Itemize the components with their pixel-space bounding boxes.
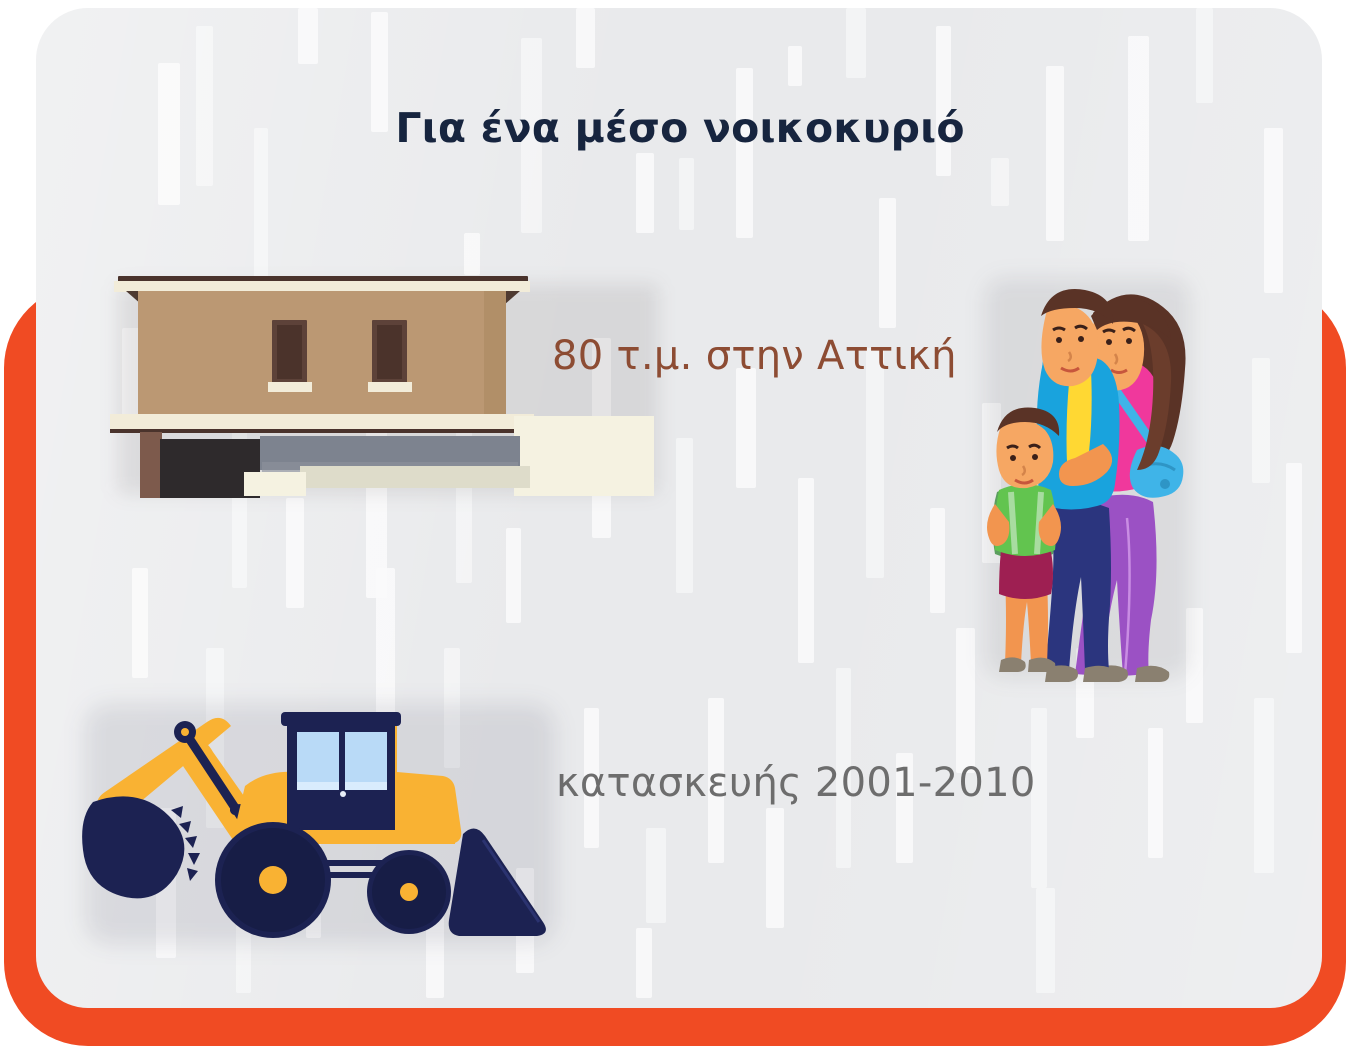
construction-year-label: κατασκευής 2001-2010 — [556, 760, 1036, 806]
backhoe-loader-illustration — [75, 690, 575, 955]
rain-streak — [298, 8, 318, 64]
boy-shoe-left — [999, 657, 1026, 672]
woman-eye-left — [1106, 339, 1112, 345]
house-illustration — [112, 276, 672, 496]
rain-streak — [286, 498, 304, 608]
man-eye-right — [1078, 336, 1084, 342]
boy-eye-left — [1010, 455, 1016, 461]
family-illustration — [985, 268, 1205, 688]
rain-streak — [464, 233, 480, 275]
rain-streak — [879, 198, 896, 328]
rain-streak — [676, 438, 693, 593]
rain-streak — [736, 68, 753, 238]
house-window-right-sill — [368, 382, 412, 392]
rain-streak — [636, 153, 654, 233]
rain-streak — [1286, 463, 1302, 653]
house-side-block — [514, 416, 654, 496]
rain-streak — [846, 8, 866, 78]
man-eye-left — [1056, 337, 1062, 343]
rain-streak — [1252, 358, 1270, 483]
boy-eye-right — [1032, 454, 1038, 460]
man-face — [1041, 306, 1098, 386]
rain-streak — [636, 928, 652, 998]
rain-streak — [132, 568, 148, 678]
rain-streak — [1036, 888, 1055, 993]
cab-window-right — [345, 732, 387, 782]
infographic-canvas: Για ένα μέσο νοικοκυριό 80 τ.μ. στην Αττ… — [0, 0, 1360, 1063]
house-floor-line — [110, 429, 536, 433]
cab-door-handle — [340, 791, 346, 797]
house-base-bar — [300, 466, 530, 488]
rain-streak — [766, 808, 784, 928]
cab-window-right-lower — [345, 782, 387, 790]
cab-roof — [281, 712, 401, 726]
house-window-right — [372, 320, 407, 384]
rain-streak — [679, 158, 694, 230]
rain-streak — [798, 478, 814, 663]
loader-pivot-center — [181, 728, 189, 736]
area-label: 80 τ.μ. στην Αττική — [552, 333, 957, 379]
family-figures-svg — [985, 268, 1205, 688]
rain-streak — [506, 528, 521, 623]
rain-streak — [1196, 8, 1213, 103]
rain-streak — [576, 8, 595, 68]
rain-streak — [930, 508, 945, 613]
boy-strap-left — [1011, 492, 1015, 554]
rain-streak — [1148, 728, 1163, 858]
rain-streak — [866, 348, 884, 578]
front-loader-bucket — [449, 828, 546, 936]
boy-face — [996, 420, 1053, 488]
woman-bag-clasp — [1160, 479, 1170, 489]
cab-window-left-lower — [297, 782, 339, 790]
rain-streak — [1046, 66, 1064, 241]
rain-streak — [1264, 128, 1283, 293]
rain-streak — [956, 628, 975, 773]
house-window-left-sill — [268, 382, 312, 392]
page-title: Για ένα μέσο νοικοκυριό — [0, 104, 1360, 152]
rain-streak — [936, 26, 951, 176]
front-wheel-hub — [400, 883, 418, 901]
house-floor-band — [110, 414, 534, 430]
house-wall-shade — [484, 291, 506, 415]
rain-streak — [991, 158, 1009, 206]
house-base-bar-light — [244, 472, 306, 496]
cab-center-post — [339, 728, 345, 830]
backhoe-bucket — [82, 796, 184, 898]
backhoe-loader-svg — [75, 690, 575, 955]
rain-streak — [788, 46, 802, 86]
rear-wheel-hub — [259, 866, 287, 894]
house-window-left — [272, 320, 307, 384]
woman-eye-right — [1126, 338, 1132, 344]
cab-window-left — [297, 732, 339, 782]
house-wall — [138, 291, 506, 415]
rain-streak — [1254, 698, 1274, 873]
house-pier — [140, 432, 162, 498]
woman-shoe-right — [1135, 666, 1169, 682]
rain-streak — [736, 368, 756, 488]
rain-streak — [646, 828, 666, 923]
